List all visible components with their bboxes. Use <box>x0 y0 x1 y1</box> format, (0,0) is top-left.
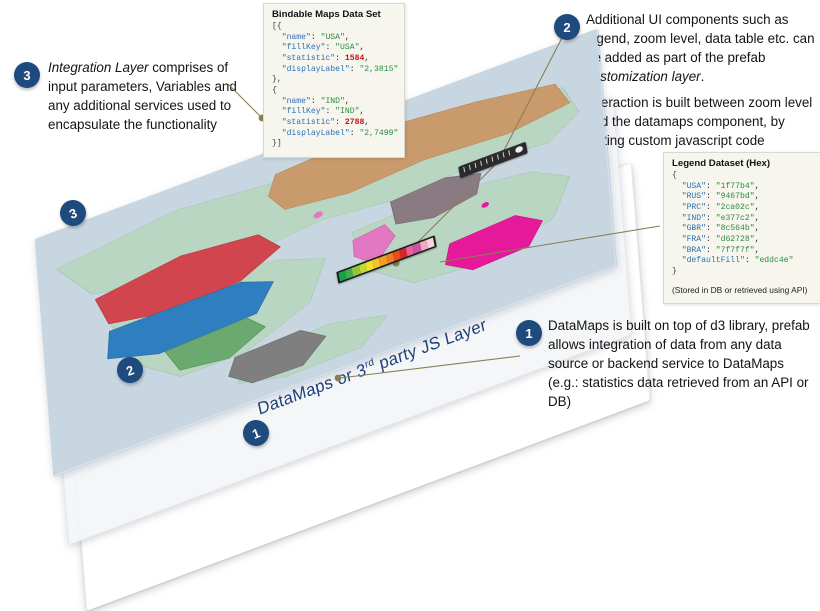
bindable-1-statistic: 2788 <box>345 118 364 127</box>
bindable-1-displaylabel: 2,7499 <box>364 129 393 138</box>
legend-hex-2: 2ca02c <box>721 203 750 212</box>
legend-key-6: BRA <box>687 246 702 255</box>
bindable-0-name: USA <box>325 33 340 42</box>
legend-hex-1: 9467bd <box>721 192 750 201</box>
bindable-dataset-callout: Bindable Maps Data Set [{ "name": "USA",… <box>263 3 405 158</box>
legend-key-4: GBR <box>687 224 702 233</box>
legend-dataset-callout: Legend Dataset (Hex) { "USA": "1f77b4", … <box>663 152 820 304</box>
note-badge-2[interactable]: 2 <box>554 14 580 40</box>
bindable-0-displaylabel: 2,3815 <box>364 65 393 74</box>
note-2a-text-before: Additional UI components such as legend,… <box>586 12 815 65</box>
legend-hex-5: d62728 <box>721 235 750 244</box>
note-badge-1[interactable]: 1 <box>516 320 542 346</box>
note-integration-layer: Integration Layer comprises of input par… <box>48 58 258 134</box>
note-3-emphasis: Integration Layer <box>48 60 149 75</box>
bindable-0-statistic: 1584 <box>345 54 364 63</box>
zoom-slider-knob[interactable] <box>515 145 524 154</box>
note-customization-layer: Additional UI components such as legend,… <box>586 10 816 86</box>
legend-key-0: USA <box>687 182 702 191</box>
note-2a-emphasis: customization layer <box>586 69 701 84</box>
legend-dataset-code: { "USA": "1f77b4", "RUS": "9467bd", "PRC… <box>672 171 820 278</box>
bindable-dataset-code: [{ "name": "USA", "fillKey": "USA", "sta… <box>272 22 396 150</box>
legend-dataset-footnote: (Stored in DB or retrieved using API) <box>672 285 820 296</box>
bindable-dataset-title: Bindable Maps Data Set <box>272 9 396 20</box>
legend-hex-3: e377c2 <box>721 214 750 223</box>
legend-dataset-title: Legend Dataset (Hex) <box>672 158 820 169</box>
legend-hex-7: eddc4e <box>759 256 788 265</box>
palette-swatch-13 <box>426 238 434 249</box>
bindable-1-name: IND <box>325 97 340 106</box>
note-zoom-interaction: Interaction is built between zoom level … <box>586 93 816 150</box>
legend-hex-0: 1f77b4 <box>721 182 750 191</box>
legend-key-3: IND <box>687 214 702 223</box>
legend-hex-4: 8c564b <box>721 224 750 233</box>
bindable-1-fillkey: IND <box>340 107 355 116</box>
diagram-canvas: Integration Layer Customization Layer Da… <box>0 0 820 471</box>
legend-hex-6: 7f7f7f <box>721 246 750 255</box>
legend-key-5: FRA <box>687 235 702 244</box>
legend-key-2: PRC <box>687 203 702 212</box>
note-datamaps-d3: DataMaps is built on top of d3 library, … <box>548 316 816 411</box>
bindable-0-fillkey: USA <box>340 43 355 52</box>
note-badge-3[interactable]: 3 <box>14 62 40 88</box>
legend-key-7: defaultFill <box>687 256 740 265</box>
legend-key-1: RUS <box>687 192 702 201</box>
note-2a-text-after: . <box>701 69 705 84</box>
